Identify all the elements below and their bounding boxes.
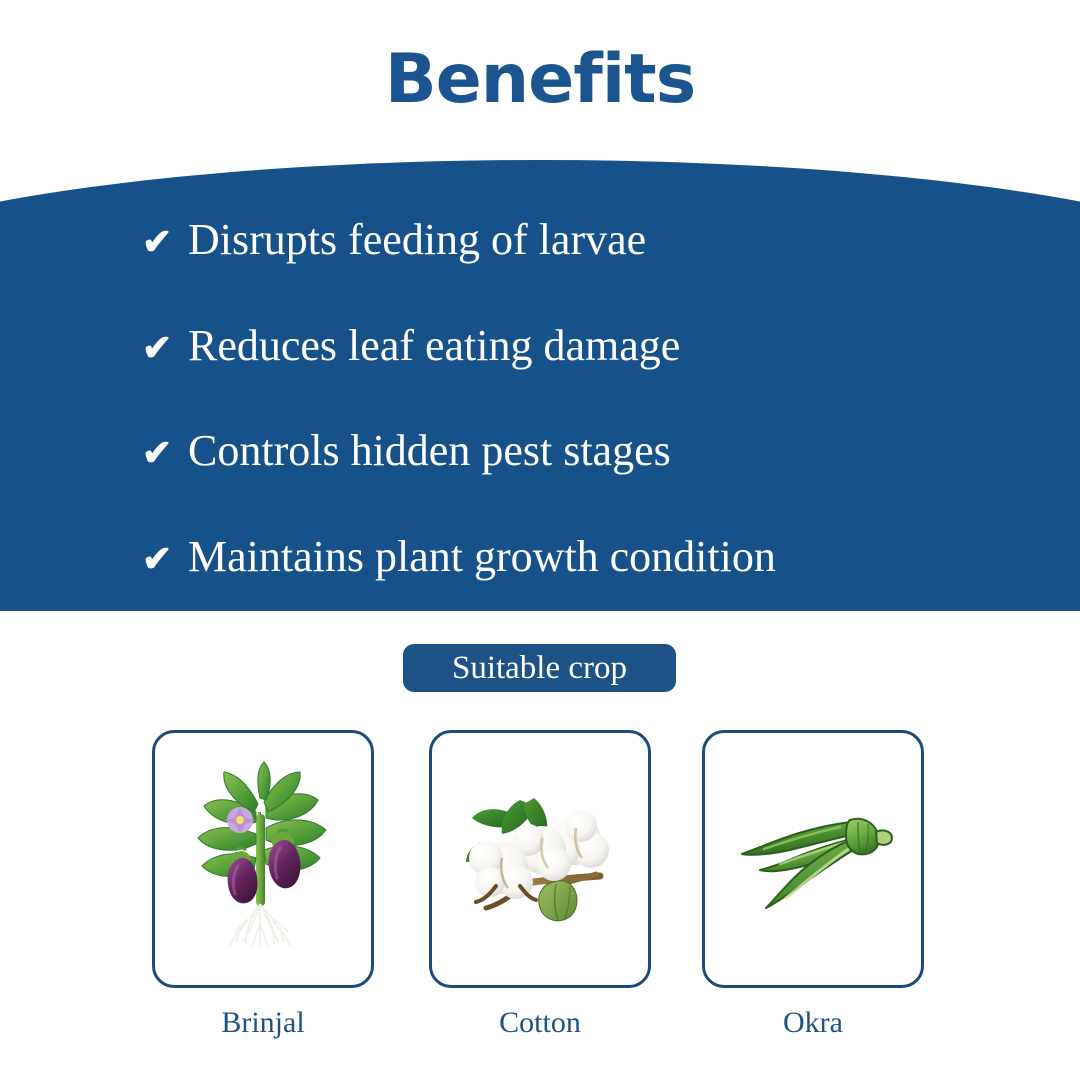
suitable-crop-badge: Suitable crop [403, 644, 676, 692]
benefit-item-label: Disrupts feeding of larvae [188, 218, 646, 262]
okra-pods-illustration [728, 794, 898, 924]
check-icon: ✔ [142, 541, 188, 577]
crop-card[interactable] [152, 730, 374, 988]
suitable-crop-list: Brinjal [0, 730, 1080, 1060]
crop-label: Cotton [429, 1008, 651, 1038]
crop-card[interactable] [429, 730, 651, 988]
benefits-panel: ✔ Disrupts feeding of larvae ✔ Reduces l… [0, 160, 1080, 611]
crop-item-cotton[interactable]: Cotton [429, 730, 651, 1038]
crop-item-okra[interactable]: Okra [702, 730, 924, 1038]
benefit-item: ✔ Reduces leaf eating damage [142, 324, 680, 368]
benefit-item: ✔ Maintains plant growth condition [142, 535, 776, 579]
benefits-infographic: Benefits ✔ Disrupts feeding of larvae ✔ … [0, 0, 1080, 1080]
suitable-crop-badge-label: Suitable crop [452, 650, 627, 687]
page-title: Benefits [0, 46, 1080, 114]
benefit-item: ✔ Controls hidden pest stages [142, 429, 671, 473]
benefits-list: ✔ Disrupts feeding of larvae ✔ Reduces l… [0, 160, 1080, 611]
crop-label: Okra [702, 1008, 924, 1038]
crop-card[interactable] [702, 730, 924, 988]
benefit-item-label: Reduces leaf eating damage [188, 324, 680, 368]
crop-label: Brinjal [152, 1008, 374, 1038]
benefit-item-label: Maintains plant growth condition [188, 535, 776, 579]
brinjal-plant-illustration [178, 754, 348, 964]
check-icon: ✔ [142, 224, 188, 260]
check-icon: ✔ [142, 330, 188, 366]
cotton-boll-illustration [450, 784, 630, 934]
crop-item-brinjal[interactable]: Brinjal [152, 730, 374, 1038]
check-icon: ✔ [142, 435, 188, 471]
benefit-item: ✔ Disrupts feeding of larvae [142, 218, 646, 262]
benefit-item-label: Controls hidden pest stages [188, 429, 671, 473]
